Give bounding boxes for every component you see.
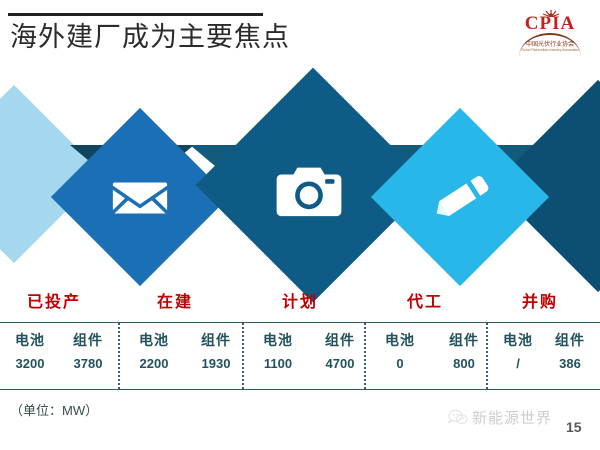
- cell-header: 电池: [124, 330, 184, 350]
- cell-header: 组件: [58, 330, 118, 350]
- envelope-icon: [109, 167, 171, 229]
- category-label-0: 已投产: [0, 288, 114, 312]
- category-label-row: 已投产 在建 计划 代工 并购: [0, 288, 600, 316]
- cell-header: 组件: [434, 330, 494, 350]
- table-cell: 组件 1930: [186, 323, 246, 374]
- table-cell: 组件 3780: [58, 323, 118, 374]
- cell-header: 组件: [186, 330, 246, 350]
- cell-header: 组件: [540, 330, 600, 350]
- category-label-4: 并购: [480, 288, 600, 312]
- table-cell: 电池 2200: [124, 323, 184, 374]
- table-cell: 电池 0: [370, 323, 430, 374]
- logo-english-name: China Photovoltaic Industry Association: [518, 48, 583, 52]
- cell-header: 电池: [370, 330, 430, 350]
- wechat-icon: [448, 409, 468, 426]
- cell-value: 1930: [186, 354, 246, 374]
- cell-value: 2200: [124, 354, 184, 374]
- title-underline-rule: [8, 13, 263, 16]
- watermark: 新能源世界: [448, 407, 552, 428]
- cell-value: 386: [540, 354, 600, 374]
- page-number: 15: [566, 419, 582, 435]
- cell-header: 电池: [488, 330, 548, 350]
- cell-header: 电池: [248, 330, 308, 350]
- category-label-1: 在建: [115, 288, 235, 312]
- table-cell: 组件 386: [540, 323, 600, 374]
- unit-note: （单位：MW）: [10, 400, 98, 419]
- cell-value: 3780: [58, 354, 118, 374]
- table-cell: 电池 1100: [248, 323, 308, 374]
- cell-value: 0: [370, 354, 430, 374]
- cell-header: 组件: [310, 330, 370, 350]
- group-divider-0: [118, 323, 120, 389]
- table-cell: 组件 800: [434, 323, 494, 374]
- logo-chinese-name: 中国光伏行业协会: [516, 39, 584, 48]
- cell-value: 3200: [0, 354, 60, 374]
- watermark-text: 新能源世界: [472, 407, 552, 428]
- page-title: 海外建厂成为主要焦点: [10, 20, 290, 54]
- pencil-icon: [431, 166, 493, 228]
- table-cell: 组件 4700: [310, 323, 370, 374]
- data-table: 电池 3200 组件 3780 电池 2200 组件 1930 电池 1100 …: [0, 322, 600, 390]
- table-cell: 电池 3200: [0, 323, 60, 374]
- cpia-logo: CPIA 中国光伏行业协会 China Photovoltaic Industr…: [516, 8, 584, 56]
- cell-value: 4700: [310, 354, 370, 374]
- cell-value: /: [488, 354, 548, 374]
- cell-value: 800: [434, 354, 494, 374]
- diamond-band: [0, 108, 600, 288]
- cell-header: 电池: [0, 330, 60, 350]
- table-cell: 电池 /: [488, 323, 548, 374]
- slide-canvas: 海外建厂成为主要焦点 CPIA 中国光伏行业协会 China Photovolt…: [0, 0, 600, 450]
- cell-value: 1100: [248, 354, 308, 374]
- logo-acronym: CPIA: [516, 13, 584, 35]
- category-label-3: 代工: [365, 288, 485, 312]
- camera-icon: [272, 156, 346, 230]
- category-label-2: 计划: [240, 288, 360, 312]
